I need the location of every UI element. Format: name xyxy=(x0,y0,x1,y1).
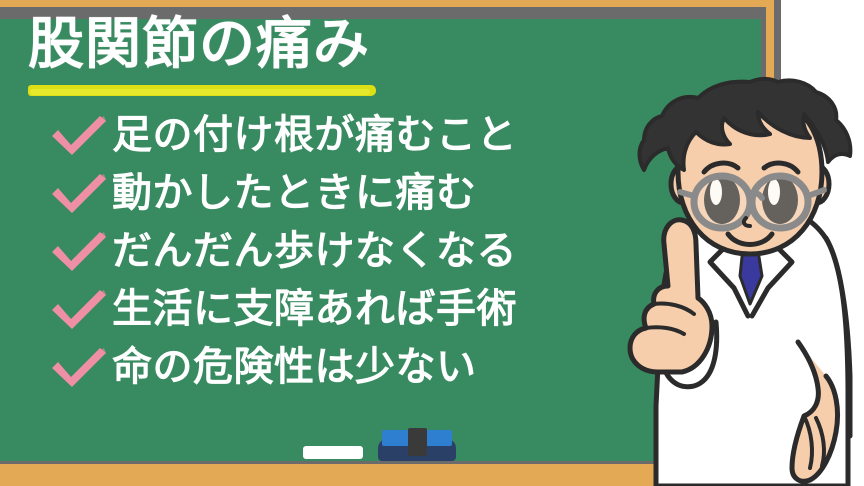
check-icon xyxy=(48,286,110,332)
list-item: 動かしたときに痛む xyxy=(48,164,648,222)
check-icon xyxy=(48,170,110,216)
check-icon xyxy=(48,344,110,390)
list-item: 足の付け根が痛むこと xyxy=(48,106,648,164)
cartoon-doctor-pointing xyxy=(612,76,864,486)
blackboard-eraser xyxy=(378,428,456,461)
check-icon xyxy=(48,228,110,274)
list-item: だんだん歩けなくなる xyxy=(48,222,648,280)
white-chalk xyxy=(303,446,363,459)
eraser-handle xyxy=(408,428,427,456)
page-title: 股関節の痛み xyxy=(28,14,370,76)
list-item-label: 足の付け根が痛むこと xyxy=(112,115,517,155)
title-underline xyxy=(28,85,376,96)
checklist: 足の付け根が痛むこと 動かしたときに痛む だんだん歩けなくなる xyxy=(48,106,648,396)
list-item: 命の危険性は少ない xyxy=(48,338,648,396)
check-icon xyxy=(48,112,110,158)
list-item-label: 動かしたときに痛む xyxy=(112,173,477,213)
list-item: 生活に支障あれば手術 xyxy=(48,280,648,338)
slide-canvas: 股関節の痛み 足の付け根が痛むこと 動かしたときに痛む xyxy=(0,0,864,486)
list-item-label: 生活に支障あれば手術 xyxy=(112,289,517,329)
list-item-label: だんだん歩けなくなる xyxy=(112,231,517,271)
list-item-label: 命の危険性は少ない xyxy=(112,347,477,387)
